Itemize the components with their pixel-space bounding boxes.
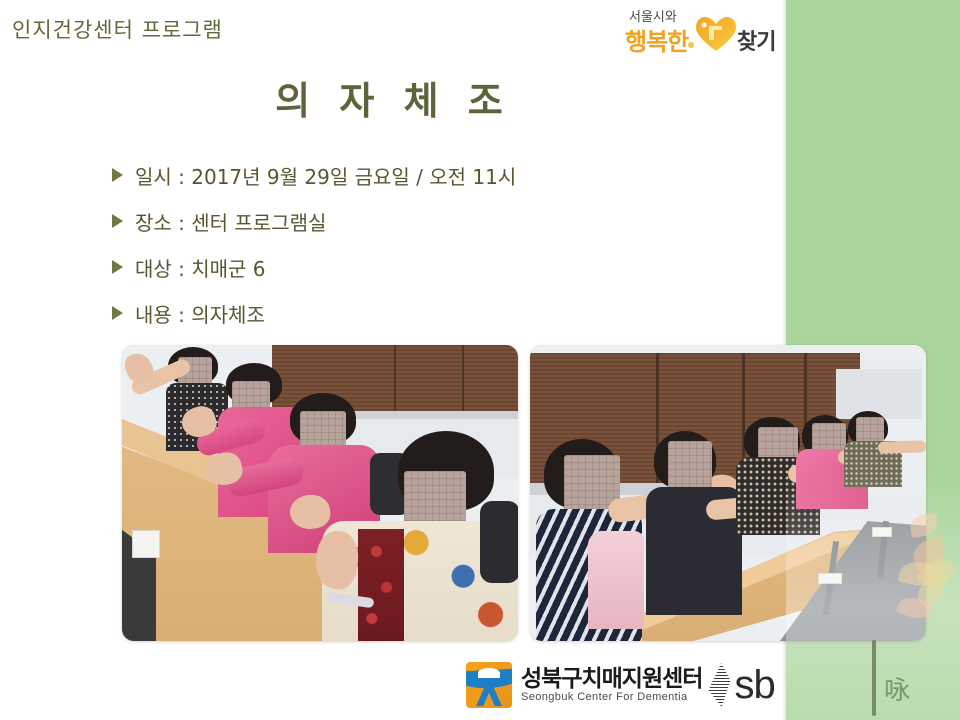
pixelated-face [668, 441, 712, 489]
emblem-bird [478, 668, 500, 678]
slide-kicker: 인지건강센터 프로그램 [12, 14, 223, 44]
list-item: 내용 : 의자체조 [112, 290, 732, 336]
panel-seam [462, 345, 464, 411]
bag-pink [588, 531, 644, 629]
stem-icon [872, 640, 876, 716]
list-item-label: 내용 : 의자체조 [135, 299, 265, 328]
chair-back [480, 501, 518, 583]
feather-icon [708, 663, 730, 707]
logo-names: 성북구치매지원센터 Seongbuk Center For Dementia [521, 667, 702, 703]
logo-name-en: Seongbuk Center For Dementia [521, 691, 702, 703]
list-item: 일시 : 2017년 9월 29일 금요일 / 오전 11시 [112, 152, 732, 198]
list-item-label: 일시 : 2017년 9월 29일 금요일 / 오전 11시 [135, 161, 516, 190]
list-item: 장소 : 센터 프로그램실 [112, 198, 732, 244]
page-title: 의 자 체 조 [0, 70, 786, 125]
heart-icon [695, 16, 737, 52]
logo-line-find: 찾기 [737, 24, 775, 56]
list-item-label: 장소 : 센터 프로그램실 [135, 207, 326, 236]
presentation-slide: 인지건강센터 프로그램 의 자 체 조 서울시와 행복한 찾기 [0, 0, 960, 720]
arm [878, 440, 926, 454]
triangle-bullet-icon [112, 306, 123, 320]
seongbuk-emblem-icon [466, 662, 512, 708]
sb-monogram: sb [734, 667, 774, 703]
photo-left [122, 345, 518, 641]
logo-dot [688, 42, 694, 48]
seongbuk-dementia-center-logo: 성북구치매지원센터 Seongbuk Center For Dementia s… [466, 658, 775, 712]
table-label [132, 530, 160, 558]
stamp-mark: 咏 [884, 678, 910, 704]
list-item: 대상 : 치매군 6 [112, 244, 732, 290]
panel-seam [394, 345, 396, 411]
list-item-label: 대상 : 치매군 6 [135, 253, 266, 282]
seoul-happiness-logo: 서울시와 행복한 찾기 [625, 6, 785, 58]
clothing-inner [358, 529, 404, 641]
wall-door [836, 369, 922, 419]
detail-list: 일시 : 2017년 9월 29일 금요일 / 오전 11시 장소 : 센터 프… [112, 152, 732, 336]
triangle-bullet-icon [112, 214, 123, 228]
logo-name-ko: 성북구치매지원센터 [521, 667, 702, 691]
logo-line-happy: 행복한 [625, 22, 688, 57]
triangle-bullet-icon [112, 168, 123, 182]
triangle-bullet-icon [112, 260, 123, 274]
